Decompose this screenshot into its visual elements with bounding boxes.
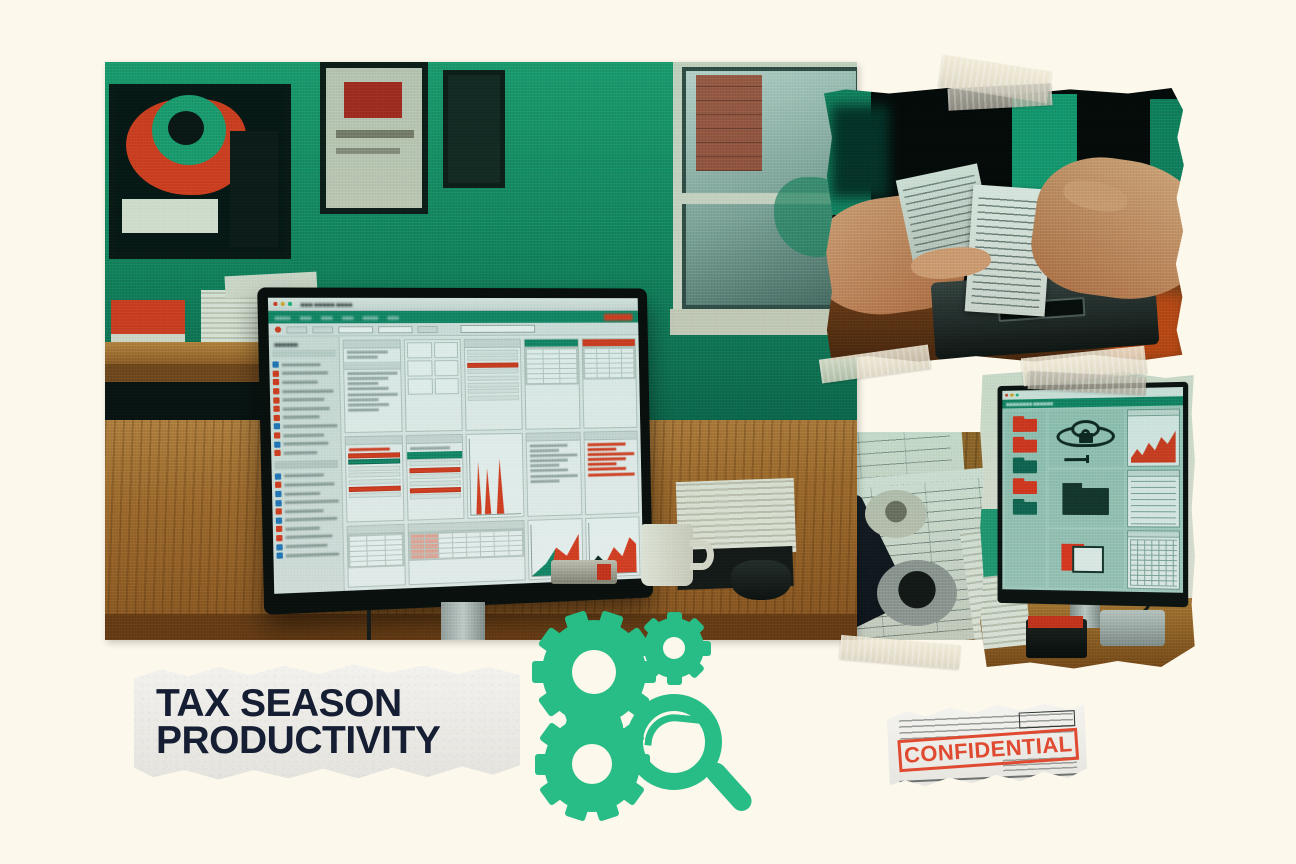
document-icon xyxy=(276,535,282,541)
folder-icon xyxy=(276,544,282,550)
checklist-rows xyxy=(1131,480,1176,525)
chart-series-area xyxy=(472,456,520,515)
secure-cloud-tile[interactable] xyxy=(1049,409,1125,467)
red-book xyxy=(111,300,185,342)
folder-dark-icon xyxy=(1063,483,1110,515)
dashboard-sidebar[interactable]: ▦▦▦▦▦▦ xyxy=(269,337,345,594)
form-box xyxy=(1019,710,1076,728)
dashboard-window-title: ▦▦▦ ▦▦▦▦▦ ▦▦▦▦ xyxy=(300,301,352,306)
framed-wall-art-3 xyxy=(443,70,505,188)
folder-icon xyxy=(275,473,281,479)
trend-chart-card[interactable] xyxy=(1127,408,1180,467)
heatmap-grid xyxy=(409,529,524,561)
folder-document-icon xyxy=(1061,541,1111,576)
worksheet-panel[interactable] xyxy=(347,524,406,588)
document-icon xyxy=(273,371,279,377)
folder-red-1[interactable] xyxy=(1014,416,1038,432)
menu-item-5[interactable]: ▦▦▦▦ xyxy=(363,315,379,320)
summary-table-panel[interactable] xyxy=(523,338,580,430)
document-manager-screen[interactable]: ▦▦▦▦▦▦▦▦ ▦▦▦▦▦▦ xyxy=(1003,387,1184,592)
gear-tooth xyxy=(596,610,624,638)
summary-table xyxy=(524,347,578,385)
gear-tooth xyxy=(564,795,590,821)
magnifier-icon xyxy=(626,694,752,820)
folder-icon xyxy=(275,491,281,497)
minimize-icon[interactable] xyxy=(281,302,285,306)
document-icon xyxy=(273,406,279,412)
computer-mouse xyxy=(731,560,791,600)
title-line-2: PRODUCTIVITY xyxy=(156,722,520,759)
gear-tooth xyxy=(593,795,619,821)
sidebar-item[interactable] xyxy=(276,549,340,560)
document-icon xyxy=(273,397,279,403)
gear-tooth xyxy=(539,777,568,806)
menu-item-4[interactable]: ▦▦▦ xyxy=(342,315,354,320)
close-icon[interactable] xyxy=(273,302,277,306)
toolbar-button-1[interactable] xyxy=(286,326,307,333)
folder-red-2[interactable] xyxy=(1014,437,1038,453)
grid-table xyxy=(1130,540,1177,586)
close-icon[interactable] xyxy=(1006,393,1009,396)
monitor-base xyxy=(1100,610,1165,646)
primary-action-button[interactable] xyxy=(604,313,633,320)
selection-panel[interactable] xyxy=(406,434,465,520)
toolbar-button-2[interactable] xyxy=(312,326,333,333)
title-line-1: TAX SEASON xyxy=(156,685,520,722)
rates-table-panel[interactable] xyxy=(581,338,637,429)
accountant-desk-photo: ▦▦▦ ▦▦▦▦▦ ▦▦▦▦ ▦▦▦▦ ▦▦▦ ▦▦▦ ▦▦▦ ▦▦▦▦ ▦▦▦ xyxy=(105,62,857,640)
document-icon xyxy=(273,388,279,394)
figure-cells xyxy=(405,340,461,397)
monitor-cable xyxy=(367,610,437,640)
sidebar-subheader-1 xyxy=(272,350,336,358)
record-icon[interactable] xyxy=(275,327,281,333)
coffee-mug-handle xyxy=(690,540,714,570)
form-rule xyxy=(900,773,1078,783)
tax-dashboard-screen[interactable]: ▦▦▦ ▦▦▦▦▦ ▦▦▦▦ ▦▦▦▦ ▦▦▦ ▦▦▦ ▦▦▦ ▦▦▦▦ ▦▦▦ xyxy=(268,298,643,594)
dashboard-titlebar: ▦▦▦ ▦▦▦▦▦ ▦▦▦▦ xyxy=(268,298,638,311)
folder-icon xyxy=(274,424,280,430)
stapler-red-part xyxy=(597,564,611,580)
framed-wall-art-1 xyxy=(109,84,291,259)
gear-tooth xyxy=(643,617,664,638)
cloud-lock-icon xyxy=(1057,421,1116,456)
menu-item-6[interactable]: ▦▦▦ xyxy=(387,315,399,320)
gear-tooth xyxy=(684,658,705,679)
gear-tooth xyxy=(564,610,592,638)
document-icon xyxy=(274,450,280,456)
dashboard-menubar[interactable]: ▦▦▦▦ ▦▦▦ ▦▦▦ ▦▦▦ ▦▦▦▦ ▦▦▦ xyxy=(268,311,638,324)
toolbar-field-2[interactable] xyxy=(378,326,413,333)
folder-red-3[interactable] xyxy=(1014,478,1038,494)
blurred-foreground-object xyxy=(831,105,889,199)
sidebar-item[interactable] xyxy=(274,448,338,458)
framed-wall-art-2 xyxy=(320,62,428,214)
gear-tooth xyxy=(667,670,682,685)
panel-header xyxy=(526,433,579,442)
checklist-card[interactable] xyxy=(1127,470,1180,528)
document-icon xyxy=(273,379,279,385)
worksheet-table xyxy=(348,533,405,568)
sidebar-header: ▦▦▦▦▦▦ xyxy=(274,342,333,347)
gear-tooth xyxy=(684,617,705,638)
folder-icon xyxy=(275,500,281,506)
panel-subheader xyxy=(407,451,462,460)
alerts-panel[interactable] xyxy=(583,431,639,515)
folder-teal-2[interactable] xyxy=(1014,499,1038,515)
info-cards xyxy=(1127,408,1180,589)
panel-header xyxy=(344,340,400,348)
dashboard-panel-grid xyxy=(339,335,643,591)
gear-tooth xyxy=(667,612,682,627)
area-chart xyxy=(467,434,523,518)
coffee-mug xyxy=(641,524,693,586)
transactions-panel[interactable] xyxy=(464,339,522,432)
screen-body xyxy=(1003,405,1184,592)
document-in-folder-tile[interactable] xyxy=(1049,530,1125,588)
gear-tooth xyxy=(638,641,653,656)
dashboard-body: ▦▦▦▦▦▦ xyxy=(269,335,644,594)
gear-small-icon xyxy=(644,618,704,678)
document-icon xyxy=(276,509,282,515)
menu-item-1[interactable]: ▦▦▦▦ xyxy=(275,315,291,320)
rates-table xyxy=(583,347,636,380)
search-input[interactable] xyxy=(460,325,535,333)
date-stamp-roll xyxy=(877,560,957,626)
panel-subheader xyxy=(344,361,400,370)
gear-tooth xyxy=(537,687,568,718)
maximize-icon[interactable] xyxy=(288,302,292,306)
folder-sidebar[interactable] xyxy=(1006,411,1046,587)
key-figures-panel[interactable] xyxy=(404,339,463,432)
dashboard-app[interactable]: ▦▦▦ ▦▦▦▦▦ ▦▦▦▦ ▦▦▦▦ ▦▦▦ ▦▦▦ ▦▦▦ ▦▦▦▦ ▦▦▦ xyxy=(268,298,643,594)
sparkline xyxy=(1131,428,1176,463)
minimize-icon[interactable] xyxy=(1011,393,1014,396)
table-card[interactable] xyxy=(1127,531,1180,590)
center-tiles xyxy=(1049,409,1125,588)
maximize-icon[interactable] xyxy=(1016,393,1019,396)
toolbar-button-3[interactable] xyxy=(418,326,438,333)
gear-tooth xyxy=(535,754,556,775)
sidebar-section-divider xyxy=(275,459,339,469)
stamp-device-red-band xyxy=(1028,616,1083,628)
gear-tooth xyxy=(539,722,568,751)
document-icon xyxy=(276,526,282,532)
gear-tooth xyxy=(537,627,568,658)
ledger-detail-panel[interactable] xyxy=(343,339,403,433)
gear-tooth xyxy=(532,661,554,683)
tax-season-productivity-label: TAX SEASON PRODUCTIVITY xyxy=(134,662,520,782)
menu-item-2[interactable]: ▦▦▦ xyxy=(300,315,312,320)
folder-teal-1[interactable] xyxy=(1014,457,1038,473)
folder-icon xyxy=(274,441,280,447)
panel-header xyxy=(465,340,519,348)
entries-panel[interactable] xyxy=(345,435,405,522)
gears-and-magnifier-graphic xyxy=(540,612,775,827)
document-management-screen-photo: ▦▦▦▦▦▦▦▦ ▦▦▦▦▦▦ xyxy=(978,372,1196,670)
panel-header xyxy=(346,436,402,445)
toolbar-field-1[interactable] xyxy=(338,326,373,333)
document-manager-monitor: ▦▦▦▦▦▦▦▦ ▦▦▦▦▦▦ xyxy=(998,382,1188,607)
document-icon xyxy=(275,482,281,488)
panel-header xyxy=(584,432,637,441)
archive-folder-tile[interactable] xyxy=(1049,470,1125,528)
document-icon xyxy=(274,415,280,421)
panel-header xyxy=(407,435,462,444)
folder-icon xyxy=(272,362,278,368)
document-icon xyxy=(274,432,280,438)
tape-dispenser-roll xyxy=(865,490,927,538)
folder-icon xyxy=(276,517,282,523)
peaks-chart-panel[interactable] xyxy=(466,433,524,519)
checklist-panel[interactable] xyxy=(525,432,582,517)
confidential-stamp-slip: CONFIDENTIAL xyxy=(886,698,1087,791)
receipt-printer-photo xyxy=(824,88,1186,363)
collage-canvas: ▦▦▦ ▦▦▦▦▦ ▦▦▦▦ ▦▦▦▦ ▦▦▦ ▦▦▦ ▦▦▦ ▦▦▦▦ ▦▦▦ xyxy=(0,0,1296,864)
gear-tooth xyxy=(696,641,711,656)
menu-item-3[interactable]: ▦▦▦ xyxy=(321,315,333,320)
folder-icon xyxy=(277,553,283,559)
matrix-panel[interactable] xyxy=(408,520,526,585)
screen-window-title: ▦▦▦▦▦▦▦▦ ▦▦▦▦▦▦ xyxy=(1007,401,1054,406)
monitor-stand xyxy=(441,602,485,640)
